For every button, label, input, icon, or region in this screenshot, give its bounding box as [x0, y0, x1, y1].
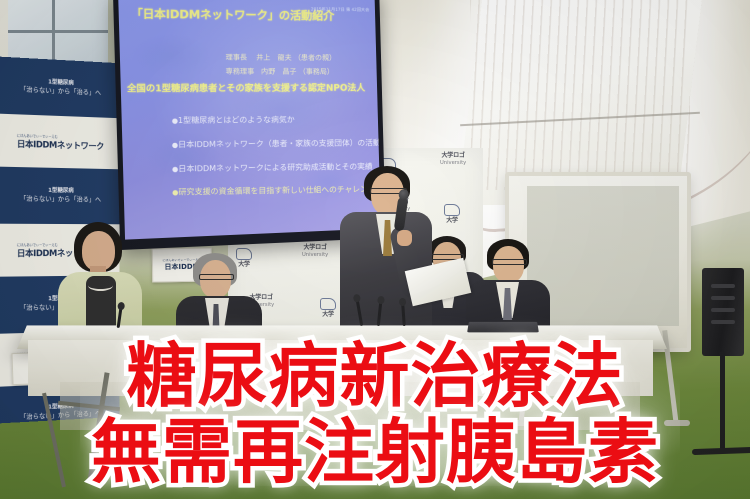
slide-presenter-row: 専務理事 内野 昌子 （事務局） — [226, 64, 373, 78]
sponsor-logo: 大学ロゴUniversity — [302, 244, 328, 258]
hand — [397, 230, 412, 246]
presenter-name: 内野 昌子 — [261, 66, 296, 75]
presenter-role: 専務理事 — [226, 66, 255, 75]
sponsor-logo: 大学 — [444, 204, 460, 225]
conference-table-skirt — [60, 382, 640, 430]
slide-bullet-list: 1型糖尿病とはどのような病気か 日本IDDMネットワーク（患者・家族の支援団体）… — [131, 115, 381, 213]
sponsor-logo: 大学 — [320, 298, 336, 319]
presenter-note: （患者の親） — [294, 53, 336, 62]
sponsor-logo: 大学ロゴUniversity — [440, 152, 466, 166]
glasses-icon — [492, 259, 527, 265]
banner-org-name: 日本IDDMネットワーク — [17, 139, 104, 151]
slide-bullet: 1型糖尿病とはどのような病気か — [172, 115, 381, 127]
banner-slogan-panel: 1型糖尿病 「治らない」から「治る」へ — [0, 57, 119, 119]
banner-slogan: 1型糖尿病 「治らない」から「治る」へ — [20, 77, 101, 98]
news-photo: 1型糖尿病 「治らない」から「治る」へ にほんあいでぃーでぃーえむ 日本IDDM… — [0, 0, 750, 499]
face — [82, 231, 115, 271]
slide-presenter-row: 理事長 井上 龍夫 （患者の親） — [226, 51, 373, 65]
laptop — [467, 322, 539, 333]
speaker-stand — [702, 268, 744, 356]
slide-date-stamp: 2015年11月17日 第 42回大会 — [305, 7, 369, 14]
banner-slogan-main: 「治らない」から「治る」へ — [20, 195, 101, 204]
presenter-name: 井上 龍夫 — [256, 53, 292, 62]
speaker-pole — [720, 352, 725, 452]
projection-screen-surface: 「日本IDDMネットワーク」の活動紹介 2015年11月17日 第 42回大会 … — [118, 0, 381, 240]
presenter-role: 理事長 — [226, 53, 248, 62]
whiteboard-foot — [664, 420, 690, 426]
slide-lead-text: 全国の1型糖尿病患者とその家族を支援する認定NPO法人 — [127, 80, 373, 95]
banner-slogan-panel: 1型糖尿病 「治らない」から「治る」へ — [0, 167, 119, 225]
necklace — [88, 280, 113, 291]
glasses-icon — [199, 274, 234, 280]
banner-slogan: 1型糖尿病 「治らない」から「治る」へ — [20, 187, 101, 205]
banner-logo-panel: にほんあいでぃーでぃーえむ 日本IDDMネットワーク — [0, 113, 119, 169]
projection-screen: 「日本IDDMネットワーク」の活動紹介 2015年11月17日 第 42回大会 … — [113, 0, 386, 250]
banner-org-logo: にほんあいでぃーでぃーえむ 日本IDDMネットワーク — [17, 132, 104, 152]
sponsor-logo: 大学 — [236, 248, 252, 269]
slide-bullet: 研究支援の資金循環を目指す新しい仕組へのチャレンジ — [172, 185, 381, 199]
presenter-note: （事務局） — [299, 67, 334, 76]
slide-bullet: 日本IDDMネットワーク（患者・家族の支援団体）の活動概要 — [172, 138, 381, 151]
slide-bullet: 日本IDDMネットワークによる研究助成活動とその実績 — [172, 161, 381, 175]
slide-presenters: 理事長 井上 龍夫 （患者の親） 専務理事 内野 昌子 （事務局） — [226, 51, 373, 79]
